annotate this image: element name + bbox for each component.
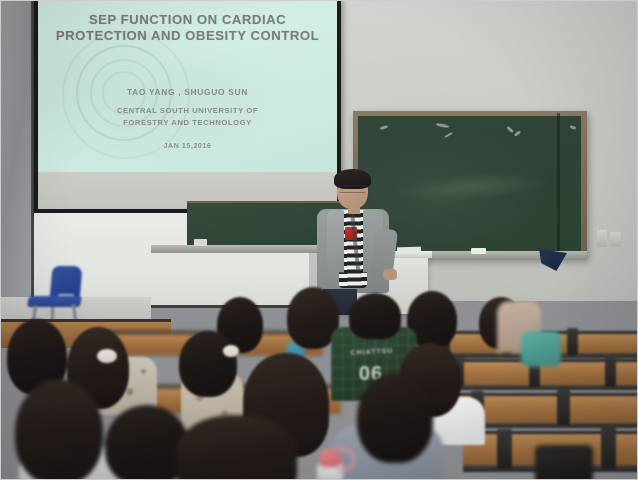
audience-head	[177, 415, 297, 480]
chalk-mark	[570, 125, 577, 130]
projection-screen: SEP FUNCTION ON CARDIAC PROTECTION AND O…	[34, 0, 341, 213]
hair-tie	[97, 349, 117, 363]
slide-title: SEP FUNCTION ON CARDIAC PROTECTION AND O…	[38, 12, 337, 44]
shelf-jar	[610, 232, 621, 247]
bench-bracket	[567, 328, 578, 355]
bench-bracket	[605, 355, 616, 387]
projection-screen-surface: SEP FUNCTION ON CARDIAC PROTECTION AND O…	[38, 1, 337, 209]
hair-tie	[223, 345, 239, 357]
slide-title-line-1: SEP FUNCTION ON CARDIAC	[38, 12, 337, 28]
bench-bracket	[601, 427, 616, 469]
slide-org-line-2: FORESTRY AND TECHNOLOGY	[38, 117, 337, 129]
slide-org-line-1: CENTRAL SOUTH UNIVERSITY OF	[38, 105, 337, 117]
chalkboard-panel-seam	[557, 113, 560, 257]
slide-organization: CENTRAL SOUTH UNIVERSITY OF FORESTRY AND…	[38, 105, 337, 129]
chalk-mark	[436, 123, 449, 129]
dark-bag	[535, 445, 593, 480]
chalk-mark	[444, 132, 453, 138]
chalk-smudge	[397, 169, 548, 205]
teal-garment	[521, 331, 561, 367]
slide-title-line-2: PROTECTION AND OBESITY CONTROL	[38, 28, 337, 44]
presenter-hand	[383, 269, 397, 280]
slide-date: JAN 15,2016	[38, 143, 337, 150]
chalk-eraser	[471, 248, 486, 254]
audience-head-long-hair	[15, 379, 103, 480]
left-wall	[1, 1, 35, 331]
bench-bracket	[557, 389, 570, 425]
glasses-icon	[339, 185, 366, 193]
paper-on-lectern	[397, 247, 421, 254]
presentation-slide: SEP FUNCTION ON CARDIAC PROTECTION AND O…	[38, 1, 337, 172]
slide-authors: TAO YANG , SHUGUO SUN	[38, 87, 337, 97]
lecture-hall-photograph: SEP FUNCTION ON CARDIAC PROTECTION AND O…	[0, 0, 638, 480]
bottle-handle	[337, 448, 355, 471]
audience-head	[349, 293, 401, 339]
audience-head	[179, 331, 237, 397]
ledge-object	[194, 239, 207, 246]
shelf-jar	[597, 230, 607, 247]
chalk-mark	[514, 130, 521, 136]
bench-bracket	[497, 429, 512, 469]
chalk-mark	[380, 125, 389, 130]
chalk-mark	[506, 126, 514, 133]
presenter-jacket-lapel-left	[327, 210, 344, 273]
audience-head	[357, 373, 433, 463]
